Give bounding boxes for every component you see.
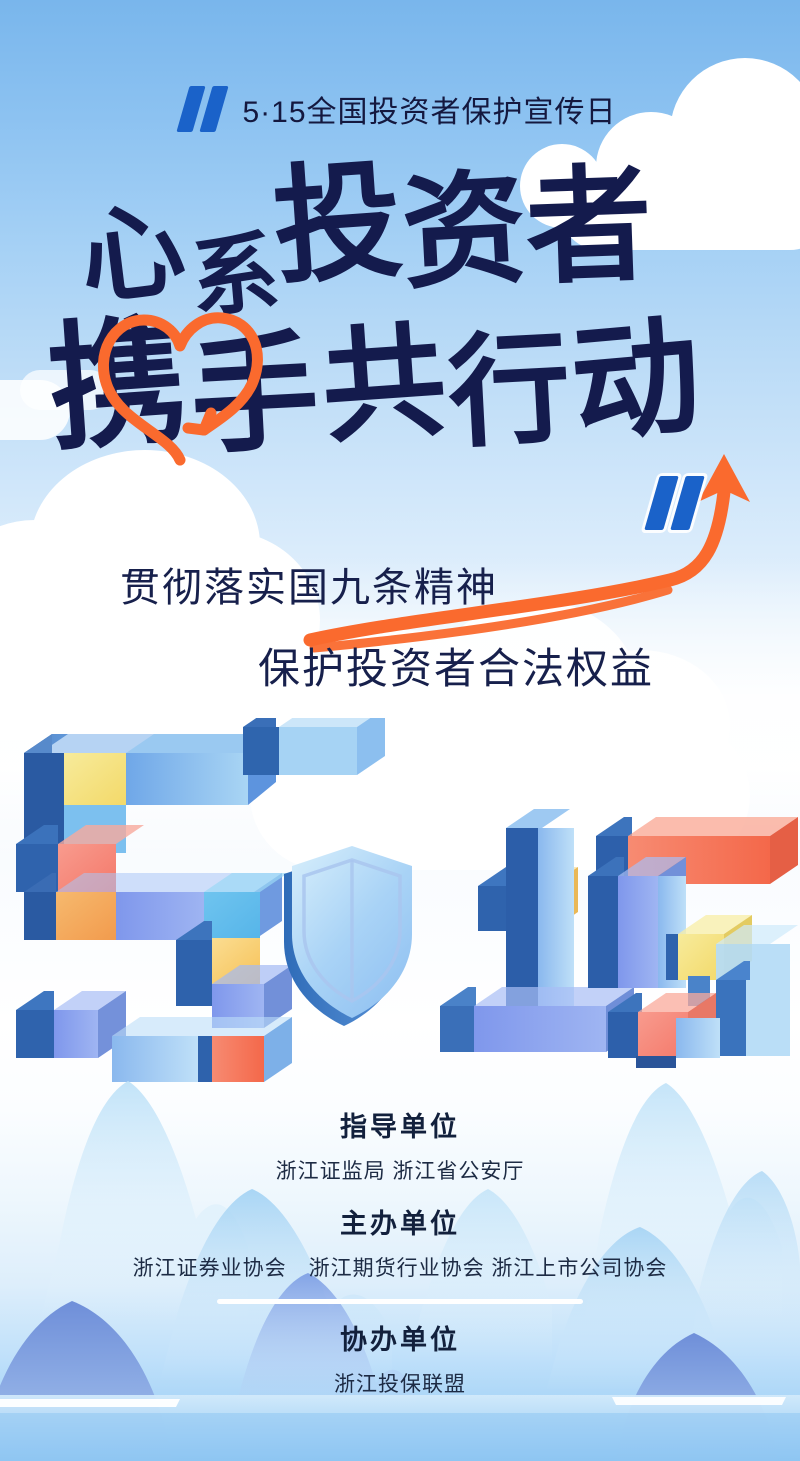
subtitle-line-2: 保护投资者合法权益	[0, 635, 800, 696]
org-names: 浙江投保联盟	[0, 1368, 800, 1398]
org-heading: 主办单位	[0, 1202, 800, 1241]
org-heading: 指导单位	[0, 1105, 800, 1144]
footer-block: 指导单位 浙江证监局 浙江省公安厅 主办单位 浙江证券业协会 浙江期货行业协会 …	[0, 1105, 800, 1415]
title-char: 共	[318, 319, 450, 451]
org-group-guidance: 指导单位 浙江证监局 浙江省公安厅	[0, 1105, 800, 1185]
title-char: 心	[74, 196, 190, 312]
title-char: 者	[524, 161, 654, 291]
org-group-coorganizer: 协办单位 浙江投保联盟	[0, 1318, 800, 1398]
title-char: 动	[567, 312, 706, 451]
header-row: 5·15全国投资者保护宣传日	[0, 86, 800, 132]
title-char: 资	[399, 167, 529, 297]
title-char: 系	[187, 227, 282, 322]
org-names: 浙江证监局 浙江省公安厅	[0, 1155, 800, 1185]
subtitle-block: 贯彻落实国九条精神 保护投资者合法权益	[0, 555, 800, 696]
org-names: 浙江证券业协会 浙江期货行业协会 浙江上市公司协会	[0, 1252, 800, 1282]
main-title-block: 心系投资者 携手共行动	[0, 150, 800, 520]
title-char: 投	[269, 156, 406, 293]
graphic-515	[0, 718, 800, 1098]
header-title: 5·15全国投资者保护宣传日	[242, 87, 616, 131]
quote-close-icon	[652, 476, 697, 530]
heart-outline-icon	[92, 310, 267, 470]
footer-divider	[217, 1299, 583, 1304]
quote-open-icon	[183, 86, 222, 132]
title-char: 行	[445, 326, 573, 454]
org-heading: 协办单位	[0, 1318, 800, 1357]
subtitle-line-1: 贯彻落实国九条精神	[0, 555, 800, 613]
org-group-host: 主办单位 浙江证券业协会 浙江期货行业协会 浙江上市公司协会	[0, 1202, 800, 1282]
title-line-1: 心系投资者	[78, 164, 652, 292]
poster-root: 5·15全国投资者保护宣传日 心系投资者 携手共行动 贯彻落实国九条精神 保护投…	[0, 0, 800, 1461]
